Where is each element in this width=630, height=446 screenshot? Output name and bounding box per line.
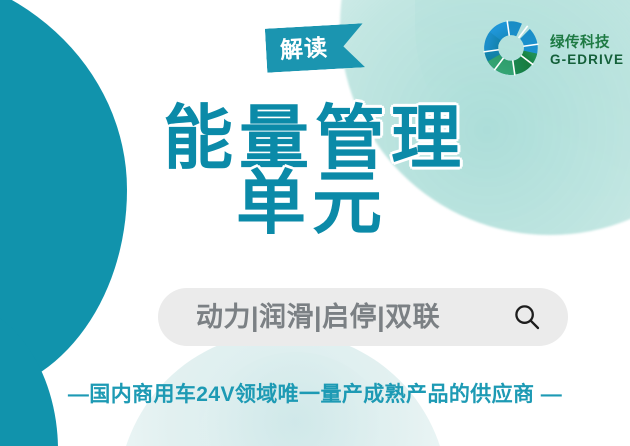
brand-logo: 绿传科技 G-EDRIVE xyxy=(478,10,624,86)
headline-line-2: 单元 xyxy=(0,169,630,238)
search-input[interactable]: 动力|润滑|启停|双联 xyxy=(196,304,512,331)
brand-name-en: G-EDRIVE xyxy=(550,53,624,67)
footer-tagline: —国内商用车24V领域唯一量产成熟产品的供应商 — xyxy=(0,384,630,405)
search-bar[interactable]: 动力|润滑|启停|双联 xyxy=(158,288,568,346)
footer-tagline-block: —国内商用车24V领域唯一量产成熟产品的供应商 — xyxy=(0,384,630,405)
headline-line-1: 能量管理 xyxy=(0,104,630,173)
search-icon[interactable] xyxy=(512,302,542,332)
poster-canvas: 绿传科技 G-EDRIVE 解读 能量管理 单元 动力|润滑|启停|双联 —国内… xyxy=(0,0,630,446)
headline-block: 能量管理 单元 xyxy=(0,104,630,239)
ribbon-label: 解读 xyxy=(279,36,328,62)
brand-logo-text: 绿传科技 G-EDRIVE xyxy=(550,30,624,67)
c-ring-segments-icon xyxy=(478,15,544,81)
brand-name-cn: 绿传科技 xyxy=(550,36,624,51)
